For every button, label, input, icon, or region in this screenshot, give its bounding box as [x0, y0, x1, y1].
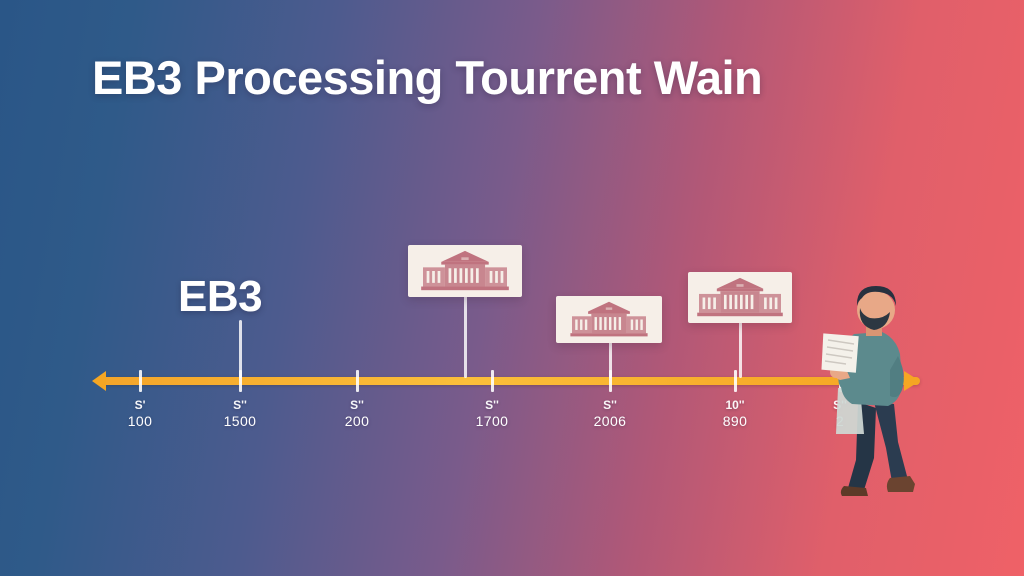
building-card-3 — [688, 272, 792, 323]
callout-stem — [464, 296, 467, 378]
timeline-tick — [356, 370, 359, 392]
timeline-tick-label: S''200 — [312, 398, 402, 431]
person-reading-document — [812, 282, 932, 504]
callout-stem — [239, 320, 242, 378]
tick-label-value: 890 — [690, 413, 780, 431]
timeline-tick-label: S''2006 — [565, 398, 655, 431]
tick-label-value: 1500 — [195, 413, 285, 431]
tick-label-value: 1700 — [447, 413, 537, 431]
classical-building-icon — [561, 301, 657, 338]
timeline-tick — [491, 370, 494, 392]
tick-label-sup: S' — [95, 398, 185, 413]
tick-label-value: 200 — [312, 413, 402, 431]
building-card-1 — [408, 245, 522, 297]
tick-label-sup: S'' — [447, 398, 537, 413]
tick-label-value: 2006 — [565, 413, 655, 431]
timeline-tick-label: S''1500 — [195, 398, 285, 431]
timeline-tick-label: S'100 — [95, 398, 185, 431]
timeline-tick — [139, 370, 142, 392]
tick-label-sup: S'' — [312, 398, 402, 413]
tick-label-sup: S'' — [195, 398, 285, 413]
tick-label-sup: S'' — [565, 398, 655, 413]
callout-stem — [609, 341, 612, 378]
infographic-canvas: EB3 Processing Tourrent Wain S'100S''150… — [0, 0, 1024, 576]
arrow-left-icon — [92, 371, 106, 391]
timeline-tick-label: S''1700 — [447, 398, 537, 431]
classical-building-icon — [413, 250, 517, 292]
timeline-axis-line — [100, 377, 920, 385]
tick-label-value: 100 — [95, 413, 185, 431]
timeline-tick — [734, 370, 737, 392]
milestone-label-eb3: EB3 — [178, 272, 262, 322]
classical-building-icon — [693, 277, 787, 318]
timeline-tick-label: 10''890 — [690, 398, 780, 431]
callout-stem — [739, 322, 742, 378]
building-card-2 — [556, 296, 662, 343]
tick-label-sup: 10'' — [690, 398, 780, 413]
